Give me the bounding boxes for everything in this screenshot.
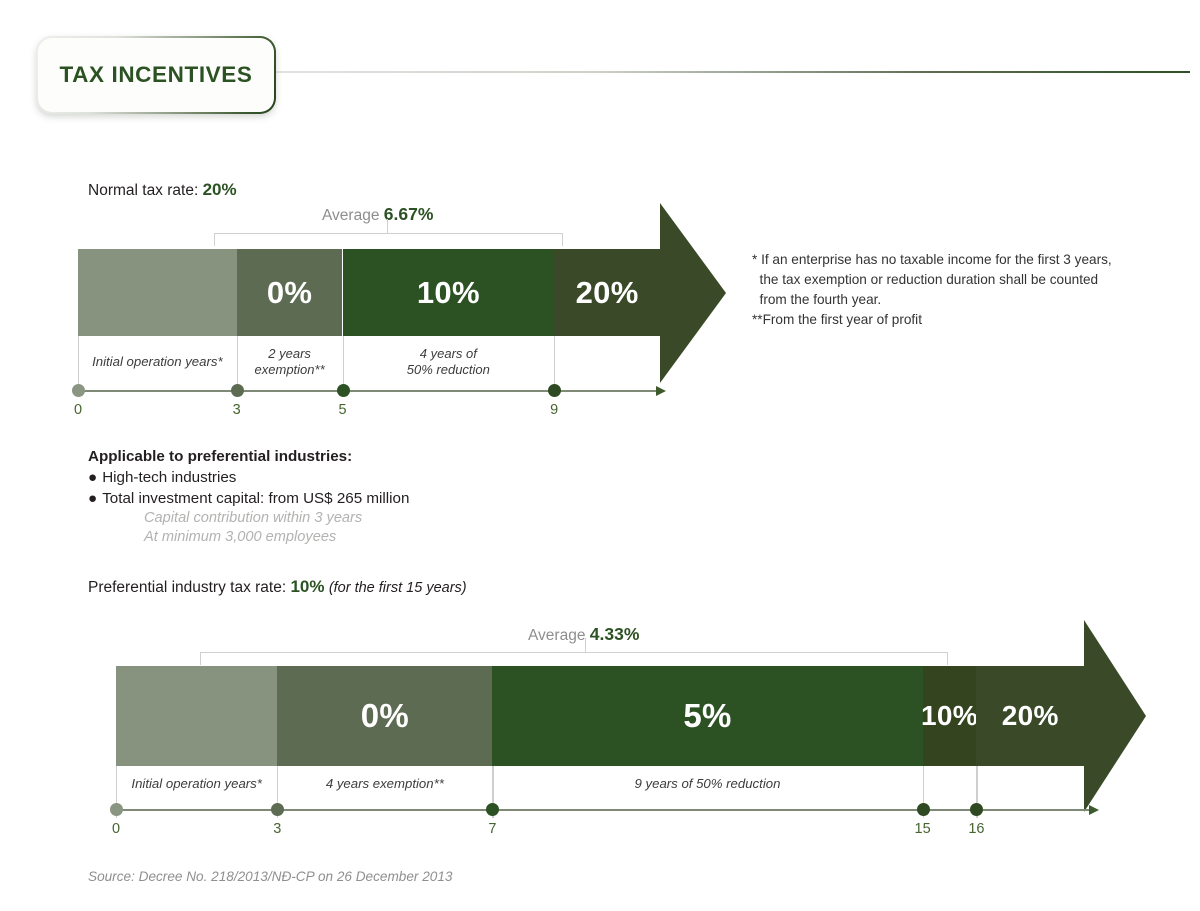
- chart2-segment-2-rate: 5%: [683, 697, 731, 735]
- chart2-tick-label-0: 0: [96, 821, 136, 837]
- bracket-right-tick: [947, 652, 948, 665]
- page-title: TAX INCENTIVES: [59, 62, 252, 88]
- chart1-caption-2: 4 years of 50% reduction: [343, 346, 555, 379]
- bracket-left-tick: [200, 652, 201, 665]
- chart1-tick-label-5: 5: [323, 402, 363, 418]
- applicable-industries-block: Applicable to preferential industries: ●…: [88, 448, 548, 545]
- chart2-caption-0: Initial operation years*: [116, 776, 277, 793]
- bracket-center-tick: [387, 219, 388, 233]
- chart1-average-value: 6.67%: [384, 204, 434, 224]
- chart1-segment-0: [78, 249, 237, 336]
- chart2-segment-4: 20%: [976, 666, 1084, 766]
- chart2-tick-label-15: 15: [903, 821, 943, 837]
- chart1-caption-1-line2: exemption**: [237, 362, 343, 378]
- applicable-subnote-1: At minimum 3,000 employees: [144, 529, 548, 545]
- chart1-tick-label-9: 9: [534, 402, 574, 418]
- band-divider: [554, 336, 555, 390]
- chart1-average-word: Average: [322, 207, 379, 224]
- chart2-segment-3: 10%: [923, 666, 977, 766]
- chart2-arrowhead-icon: [1084, 620, 1146, 812]
- axis-dot-0: [110, 803, 123, 816]
- chart1-caption-1: 2 years exemption**: [237, 346, 343, 379]
- applicable-bullet-1-text: Total investment capital: from US$ 265 m…: [102, 490, 409, 507]
- axis-dot-9: [548, 384, 561, 397]
- bracket-left-tick: [214, 233, 215, 246]
- chart2-segment-3-rate: 10%: [921, 700, 978, 732]
- axis-dot-3: [231, 384, 244, 397]
- chart1-arrowhead-icon: [660, 203, 726, 383]
- chart2-title-value: 10%: [290, 577, 324, 596]
- page-title-badge: TAX INCENTIVES: [36, 36, 276, 114]
- axis-line: [116, 809, 1089, 811]
- bracket-center-tick: [585, 638, 586, 652]
- chart1-caption-1-line1: 2 years: [237, 346, 343, 362]
- applicable-subnote-0: Capital contribution within 3 years: [144, 510, 548, 526]
- axis-dot-5: [337, 384, 350, 397]
- chart2-segment-2: 5%: [492, 666, 922, 766]
- applicable-bullet-0-text: High-tech industries: [102, 469, 236, 486]
- axis-arrow-icon: [656, 386, 666, 396]
- chart2-tick-label-7: 7: [472, 821, 512, 837]
- chart2-average-word: Average: [528, 627, 585, 644]
- chart2-title-prefix: Preferential industry tax rate:: [88, 579, 286, 596]
- axis-dot-15: [917, 803, 930, 816]
- axis-dot-0: [72, 384, 85, 397]
- footnote-line-2: the tax exemption or reduction duration …: [752, 270, 1172, 290]
- chart2-caption-1: 4 years exemption**: [277, 776, 492, 793]
- chart2-segment-4-rate: 20%: [1002, 700, 1059, 732]
- infographic-canvas: TAX INCENTIVES Normal tax rate: 20% Aver…: [0, 0, 1200, 911]
- chart1-title: Normal tax rate: 20%: [88, 180, 237, 200]
- chart1-segment-2: 10%: [343, 249, 555, 336]
- chart1-average-label: Average 6.67%: [322, 204, 433, 225]
- chart2-segment-0: [116, 666, 277, 766]
- chart2-tick-label-3: 3: [257, 821, 297, 837]
- bullet-dot-icon: ●: [88, 490, 97, 507]
- footnotes-block: * If an enterprise has no taxable income…: [752, 250, 1172, 329]
- chart2-caption-2: 9 years of 50% reduction: [492, 776, 922, 793]
- axis-line: [78, 390, 656, 392]
- bracket-right-tick: [562, 233, 563, 246]
- chart2-tick-label-16: 16: [956, 821, 996, 837]
- chart1-segment-3: 20%: [554, 249, 660, 336]
- chart2-bar: 0% 5% 10% 20%: [116, 666, 1084, 766]
- footnote-line-3: from the fourth year.: [752, 290, 1172, 310]
- chart1-segment-2-rate: 10%: [417, 275, 480, 311]
- axis-arrow-icon: [1089, 805, 1099, 815]
- bracket-horizontal-line: [214, 233, 563, 234]
- applicable-title: Applicable to preferential industries:: [88, 448, 548, 465]
- chart1-title-prefix: Normal tax rate:: [88, 182, 198, 199]
- footnote-line-1: * If an enterprise has no taxable income…: [752, 250, 1172, 270]
- chart2-title: Preferential industry tax rate: 10% (for…: [88, 577, 467, 597]
- chart1-segment-1: 0%: [237, 249, 343, 336]
- chart2-average-value: 4.33%: [590, 624, 640, 644]
- bullet-dot-icon: ●: [88, 469, 97, 486]
- chart1-caption-2-line2: 50% reduction: [343, 362, 555, 378]
- chart1-segment-1-rate: 0%: [267, 275, 312, 311]
- chart1-tick-label-0: 0: [58, 402, 98, 418]
- chart1-caption-0: Initial operation years*: [78, 354, 237, 371]
- chart1-caption-band: Initial operation years* 2 years exempti…: [78, 336, 660, 390]
- header-divider-rule: [275, 71, 1190, 73]
- chart1-bar: 0% 10% 20%: [78, 249, 660, 336]
- chart1-segment-3-rate: 20%: [576, 275, 639, 311]
- chart2-segment-1-rate: 0%: [361, 697, 409, 735]
- chart1-caption-2-line1: 4 years of: [343, 346, 555, 362]
- chart1-tick-label-3: 3: [217, 402, 257, 418]
- chart2-segment-1: 0%: [277, 666, 492, 766]
- footnote-line-4: **From the first year of profit: [752, 310, 1172, 330]
- chart2-average-label: Average 4.33%: [528, 624, 639, 645]
- applicable-bullet-0: ●High-tech industries: [88, 469, 548, 486]
- bracket-horizontal-line: [200, 652, 948, 653]
- chart2-title-note: (for the first 15 years): [329, 580, 467, 596]
- chart1-title-value: 20%: [203, 180, 237, 199]
- source-note: Source: Decree No. 218/2013/NĐ-CP on 26 …: [88, 869, 452, 884]
- applicable-bullet-1: ●Total investment capital: from US$ 265 …: [88, 490, 548, 507]
